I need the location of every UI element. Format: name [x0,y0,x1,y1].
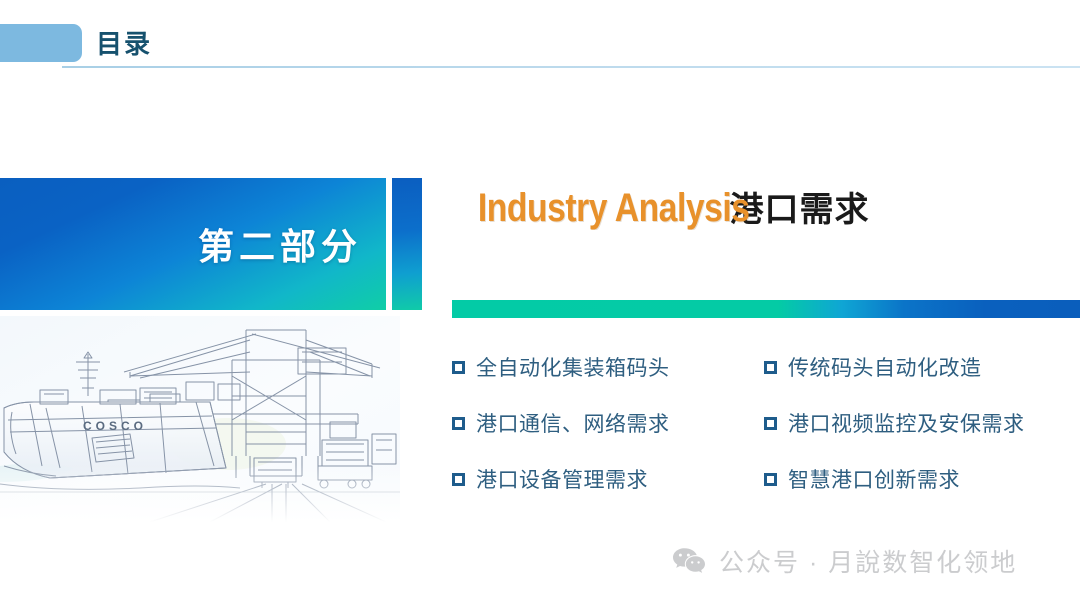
section-number-panel: 第二部分 [0,178,386,310]
section-heading: Industry Analysis 港口需求 [452,182,869,231]
header-tab-shape [0,24,82,62]
watermark-text: 公众号 · 月說数智化领地 [719,543,1017,579]
square-bullet-icon [452,417,465,430]
list-item[interactable]: 传统码头自动化改造 [764,352,1076,382]
section-heading-english: Industry Analysis [478,186,750,231]
slide-canvas: 目录 第二部分 [0,0,1080,608]
list-item[interactable]: 港口视频监控及安保需求 [764,408,1076,438]
list-item-label: 传统码头自动化改造 [788,352,982,382]
page-title: 目录 [96,26,152,62]
list-item-label: 全自动化集装箱码头 [476,352,670,382]
square-bullet-icon [764,361,777,374]
list-item-label: 港口通信、网络需求 [476,408,670,438]
header-divider-line [62,66,1080,68]
list-item-label: 港口视频监控及安保需求 [788,408,1025,438]
list-item[interactable]: 智慧港口创新需求 [764,464,1076,494]
square-bullet-icon [764,473,777,486]
port-container-ship-illustration: COSCO [0,316,400,522]
square-bullet-icon [764,417,777,430]
square-bullet-icon [452,361,465,374]
square-bullet-icon [452,473,465,486]
section-accent-bar [392,178,422,310]
list-item[interactable]: 全自动化集装箱码头 [452,352,764,382]
heading-gradient-divider [452,300,1080,318]
list-item[interactable]: 港口设备管理需求 [452,464,764,494]
watermark: 公众号 · 月說数智化领地 [672,543,1017,579]
list-item-label: 智慧港口创新需求 [788,464,960,494]
list-item-label: 港口设备管理需求 [476,464,648,494]
wechat-icon [672,547,706,575]
topic-list: 全自动化集装箱码头 传统码头自动化改造 港口通信、网络需求 港口视频监控及安保需… [452,352,1080,494]
section-heading-chinese: 港口需求 [729,182,869,231]
section-number-label: 第二部分 [198,218,362,270]
list-item[interactable]: 港口通信、网络需求 [452,408,764,438]
